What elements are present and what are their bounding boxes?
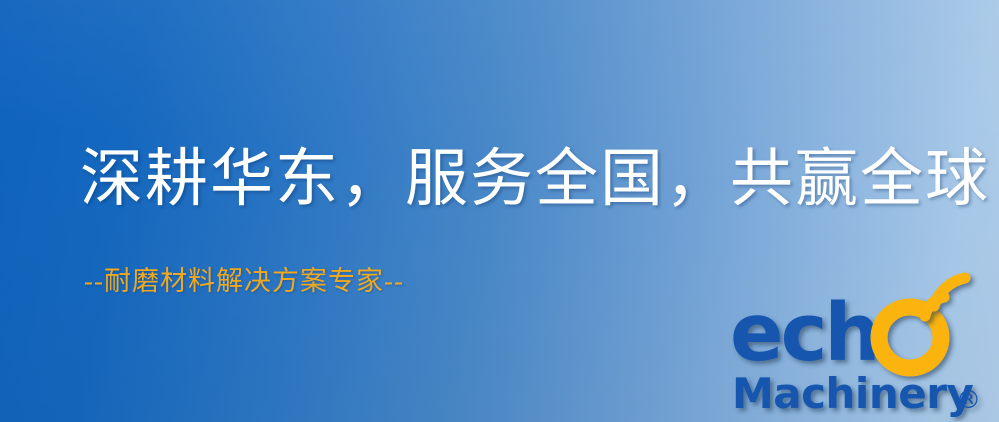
logo-o-outer [879,307,941,368]
wifi-arcs-icon [925,278,965,316]
logo-tagline-group: Machinery ® [732,369,981,418]
logo-wordmark-ech: ech [730,287,878,379]
echo-machinery-logo[interactable]: ech Machinery ® [729,290,991,422]
logo-ech-text: ech [730,287,878,379]
subtitle: --耐磨材料解决方案专家-- [84,268,404,295]
logo-tagline-text: Machinery [732,369,973,418]
registered-trademark-icon: ® [956,385,981,414]
logo-artwork: ech Machinery ® [729,290,991,422]
promo-banner: 深耕华东，服务全国，共赢全球 --耐磨材料解决方案专家-- ech [0,0,999,422]
wifi-arc-outer [934,278,965,306]
logo-letter-o-ring [879,307,941,368]
headline: 深耕华东，服务全国，共赢全球 [80,148,990,211]
